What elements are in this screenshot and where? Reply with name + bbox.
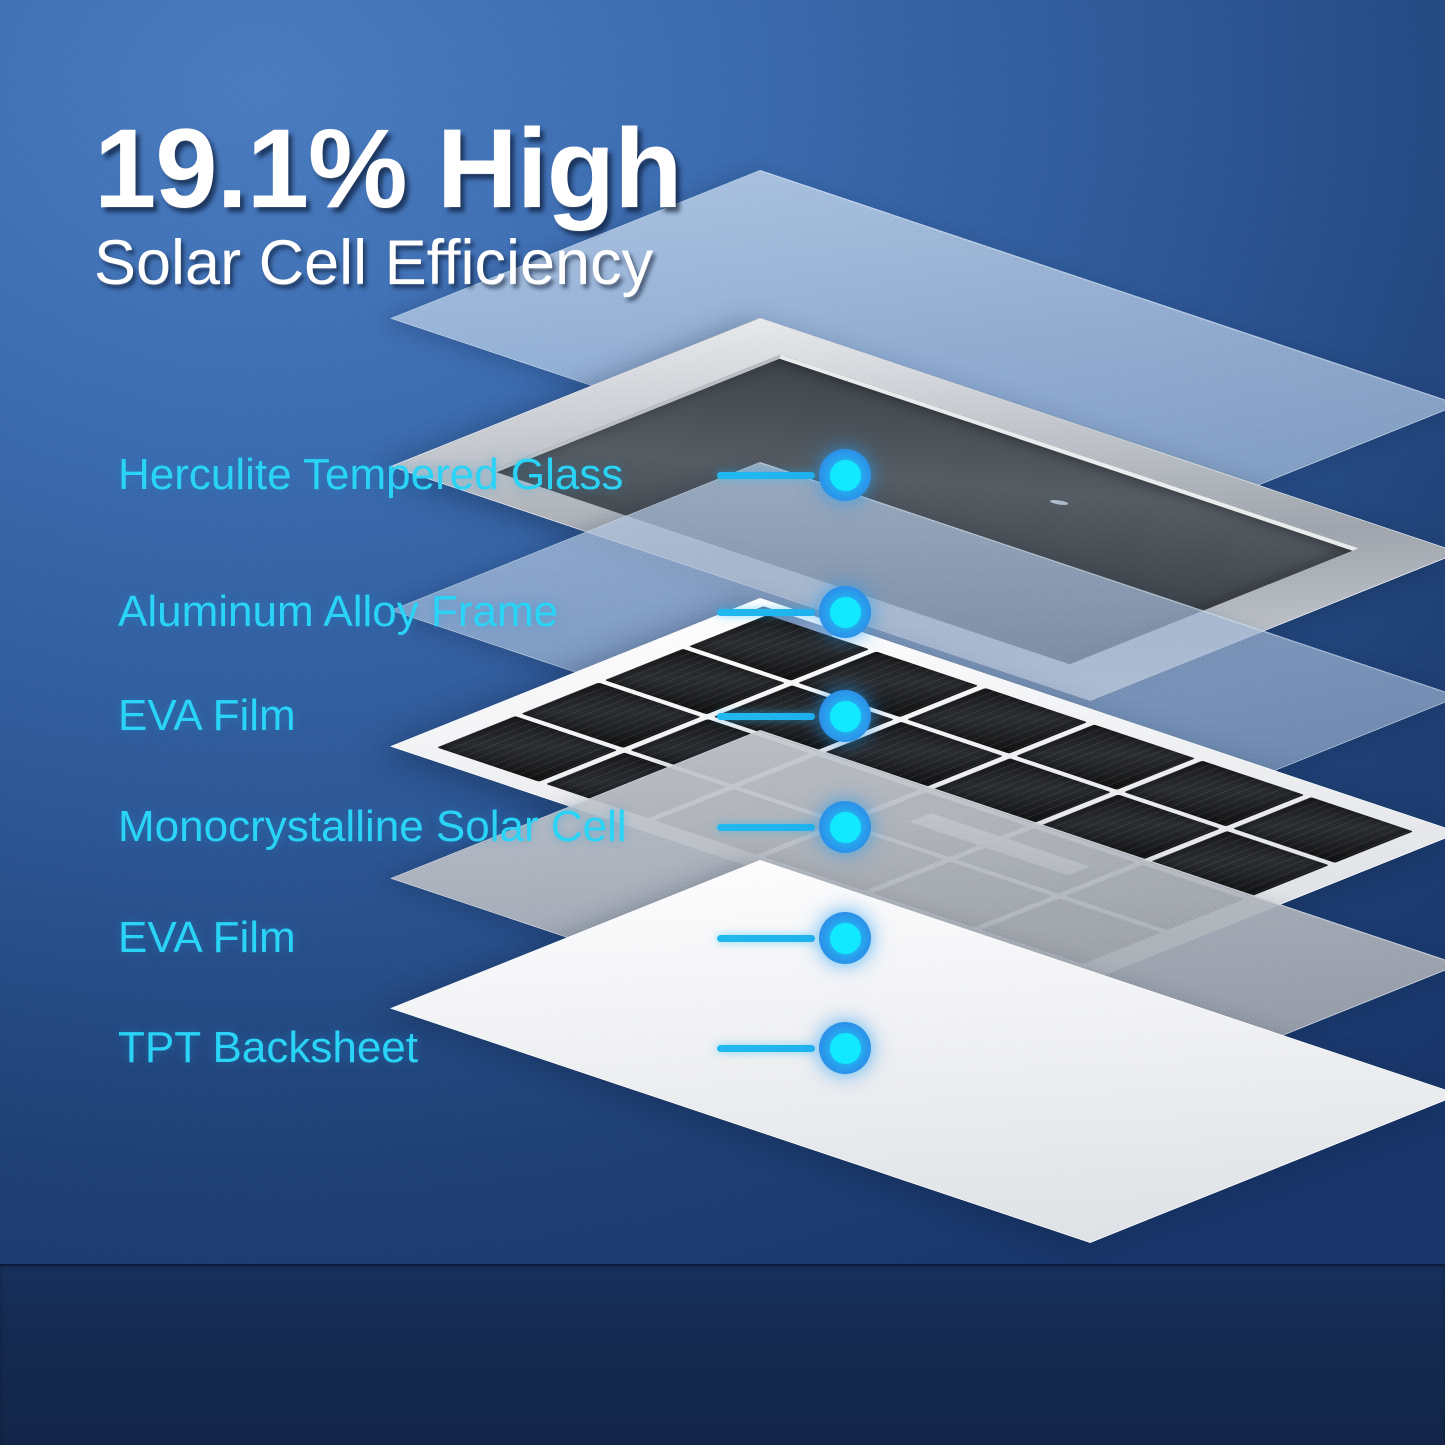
leader-line-eva-film-top (717, 713, 815, 720)
callout-herculite-tempered-glass: Herculite Tempered Glass (118, 448, 623, 502)
marker-dot-aluminum-alloy-frame (819, 586, 871, 638)
callout-label: TPT Backsheet (118, 1026, 418, 1070)
callout-eva-film-top: EVA Film (118, 689, 296, 743)
marker-dot-eva-film-top (819, 690, 871, 742)
callout-label: EVA Film (118, 694, 296, 738)
leader-line-tpt-backsheet (717, 1045, 815, 1052)
callout-label: Herculite Tempered Glass (118, 453, 623, 497)
leader-line-eva-film-bottom (717, 935, 815, 942)
leader-line-monocrystalline-solar-cell (717, 824, 815, 831)
callout-label: Aluminum Alloy Frame (118, 590, 558, 634)
footer-divider (0, 1264, 1445, 1266)
leader-line-herculite-tempered-glass (717, 472, 815, 479)
callout-eva-film-bottom: EVA Film (118, 911, 296, 965)
footer-band (0, 1264, 1445, 1445)
callout-label: Monocrystalline Solar Cell (118, 805, 627, 849)
headline-secondary: Solar Cell Efficiency (94, 230, 854, 297)
marker-dot-eva-film-bottom (819, 912, 871, 964)
callout-aluminum-alloy-frame: Aluminum Alloy Frame (118, 585, 558, 639)
marker-dot-monocrystalline-solar-cell (819, 801, 871, 853)
marker-dot-tpt-backsheet (819, 1022, 871, 1074)
leader-line-aluminum-alloy-frame (717, 609, 815, 616)
callout-monocrystalline-solar-cell: Monocrystalline Solar Cell (118, 800, 627, 854)
callout-label: EVA Film (118, 916, 296, 960)
exploded-panel-illustration (760, 170, 1445, 1300)
marker-dot-herculite-tempered-glass (819, 449, 871, 501)
callout-tpt-backsheet: TPT Backsheet (118, 1021, 418, 1075)
headline-block: 19.1% High Solar Cell Efficiency (94, 112, 854, 297)
infographic-canvas: 19.1% High Solar Cell Efficiency Herculi… (0, 0, 1445, 1445)
headline-primary: 19.1% High (94, 112, 854, 226)
